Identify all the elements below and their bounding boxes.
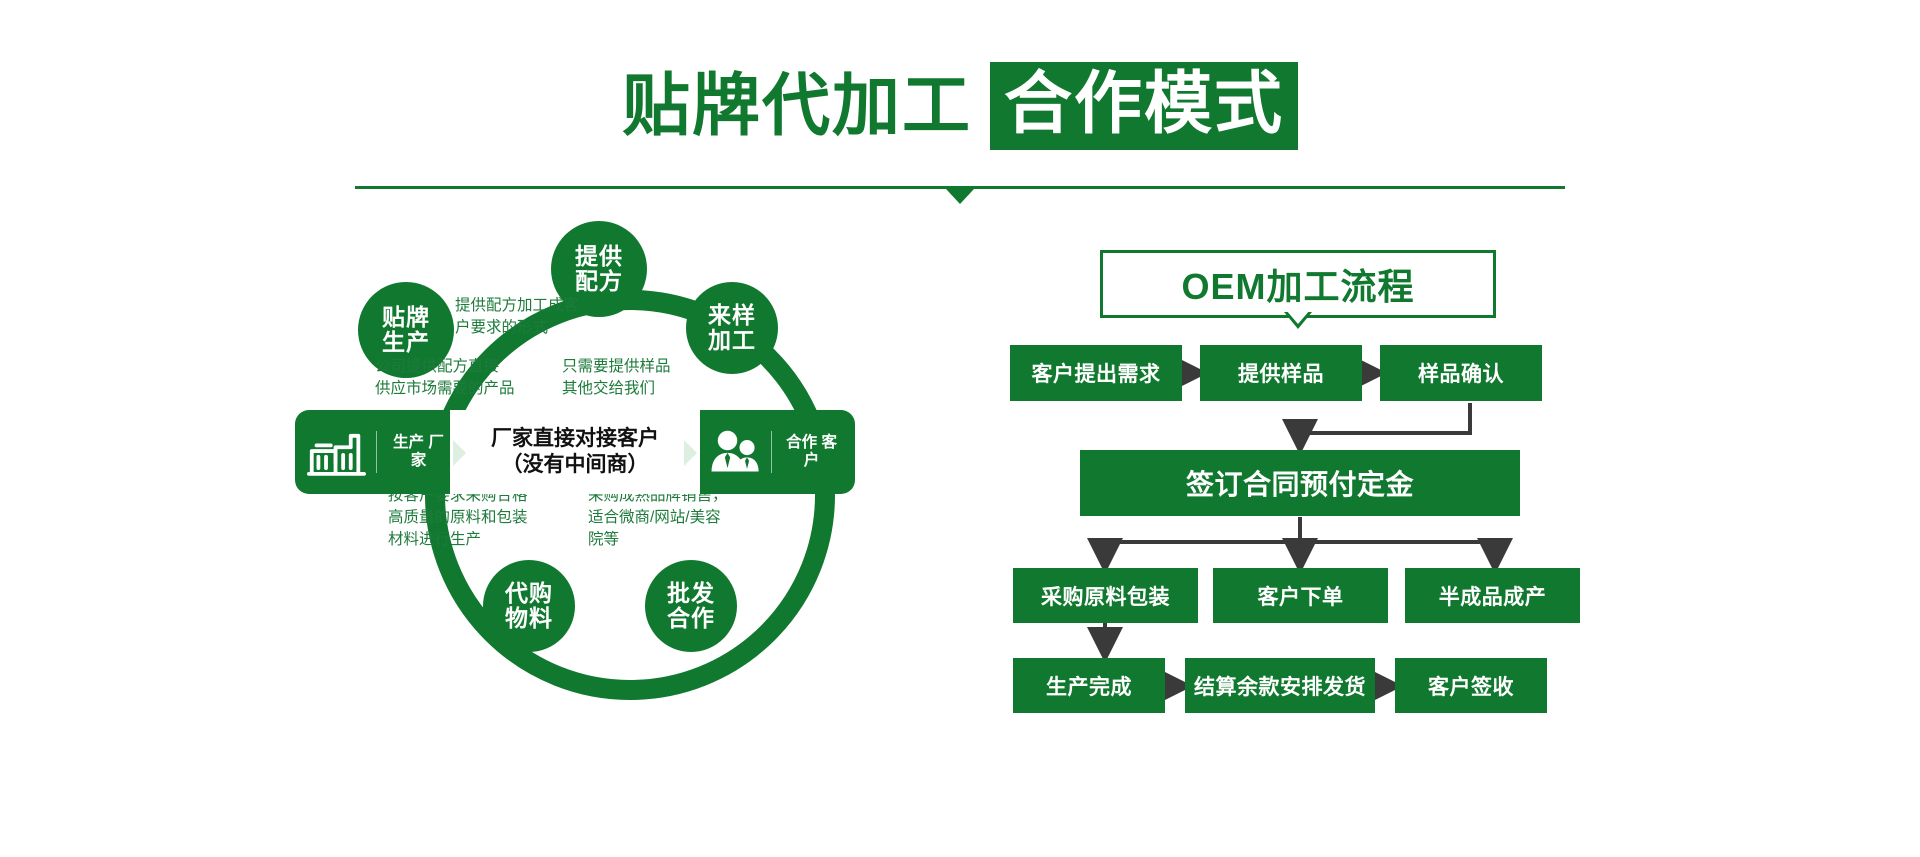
- desc-material-purchasing: 按客户要求采购合格 高质量的原料和包装 材料进行生产: [388, 485, 588, 551]
- title-plain-text: 贴牌代加工: [622, 72, 972, 140]
- chevron-right-icon-right: [684, 440, 697, 466]
- node-label-line2: 合作: [667, 606, 715, 631]
- oem-flow-chart: OEM加工流程 客户提出需求 提供样: [995, 250, 1635, 770]
- chevron-right-icon-left: [453, 440, 466, 466]
- center-band: 生产 厂家 厂家直接对接客户 （没有中间商） 合作 客户: [295, 410, 855, 494]
- producer-side[interactable]: 生产 厂家: [295, 410, 450, 494]
- factory-icon: [307, 425, 366, 479]
- node-material-purchasing[interactable]: 代购 物料: [483, 560, 575, 652]
- customer-divider: [771, 431, 772, 473]
- header-divider: [355, 186, 1565, 212]
- box-semi-finished-production[interactable]: 半成品成产: [1405, 568, 1580, 623]
- producer-label-line1: 生产: [393, 434, 424, 451]
- node-label-line1: 贴牌: [382, 305, 430, 330]
- page-title: 贴牌代加工 合作模式: [0, 62, 1920, 150]
- box-sign-contract-deposit[interactable]: 签订合同预付定金: [1080, 450, 1520, 516]
- box-sample-confirm[interactable]: 样品确认: [1380, 345, 1542, 401]
- direct-connection-line2: （没有中间商）: [502, 452, 649, 478]
- direct-connection-line1: 厂家直接对接客户: [491, 426, 659, 452]
- direct-connection-text: 厂家直接对接客户 （没有中间商）: [475, 410, 675, 494]
- producer-label: 生产 厂家: [387, 434, 450, 471]
- desc-sample-processing: 只需要提供样品 其他交给我们: [562, 356, 752, 400]
- divider-notch-icon: [946, 189, 974, 204]
- node-label-line1: 来样: [708, 303, 756, 328]
- customer-label: 合作 客户: [782, 434, 841, 471]
- customers-icon: [708, 426, 761, 478]
- page-header: 贴牌代加工 合作模式: [0, 0, 1920, 210]
- node-label-line2: 配方: [575, 269, 623, 294]
- node-label-line1: 批发: [667, 581, 715, 606]
- customer-side[interactable]: 合作 客户: [700, 410, 855, 494]
- box-customer-demand[interactable]: 客户提出需求: [1010, 345, 1182, 401]
- flow-title-notch-inner-icon: [1286, 310, 1310, 324]
- cooperation-circle-diagram: 提供 配方 来样 加工 批发 合作 代购 物料 贴牌 生产 提供配方加工成客 户…: [340, 240, 980, 800]
- box-purchase-materials[interactable]: 采购原料包装: [1013, 568, 1198, 623]
- flow-title-box: OEM加工流程: [1100, 250, 1496, 318]
- node-label-line1: 提供: [575, 244, 623, 269]
- customer-label-line1: 合作: [786, 434, 817, 451]
- box-settle-balance-ship[interactable]: 结算余款安排发货: [1185, 658, 1375, 713]
- desc-wholesale-cooperation: 采购成熟品牌销售， 适合微商/网站/美容 院等: [588, 485, 778, 551]
- node-wholesale-cooperation[interactable]: 批发 合作: [645, 560, 737, 652]
- box-customer-receive[interactable]: 客户签收: [1395, 658, 1547, 713]
- box-provide-sample[interactable]: 提供样品: [1200, 345, 1362, 401]
- box-customer-order[interactable]: 客户下单: [1213, 568, 1388, 623]
- title-highlight-text: 合作模式: [990, 62, 1298, 150]
- flow-title-text: OEM加工流程: [1181, 258, 1414, 310]
- desc-oem-production: 公司提供配方直接 供应市场需要的产品: [375, 356, 575, 400]
- node-label-line1: 代购: [505, 581, 553, 606]
- node-label-line2: 生产: [382, 330, 430, 355]
- node-label-line2: 物料: [505, 606, 553, 631]
- producer-divider: [376, 431, 377, 473]
- node-label-line2: 加工: [708, 328, 756, 353]
- desc-provide-formula: 提供配方加工成客 户要求的形式: [455, 295, 655, 339]
- box-production-complete[interactable]: 生产完成: [1013, 658, 1165, 713]
